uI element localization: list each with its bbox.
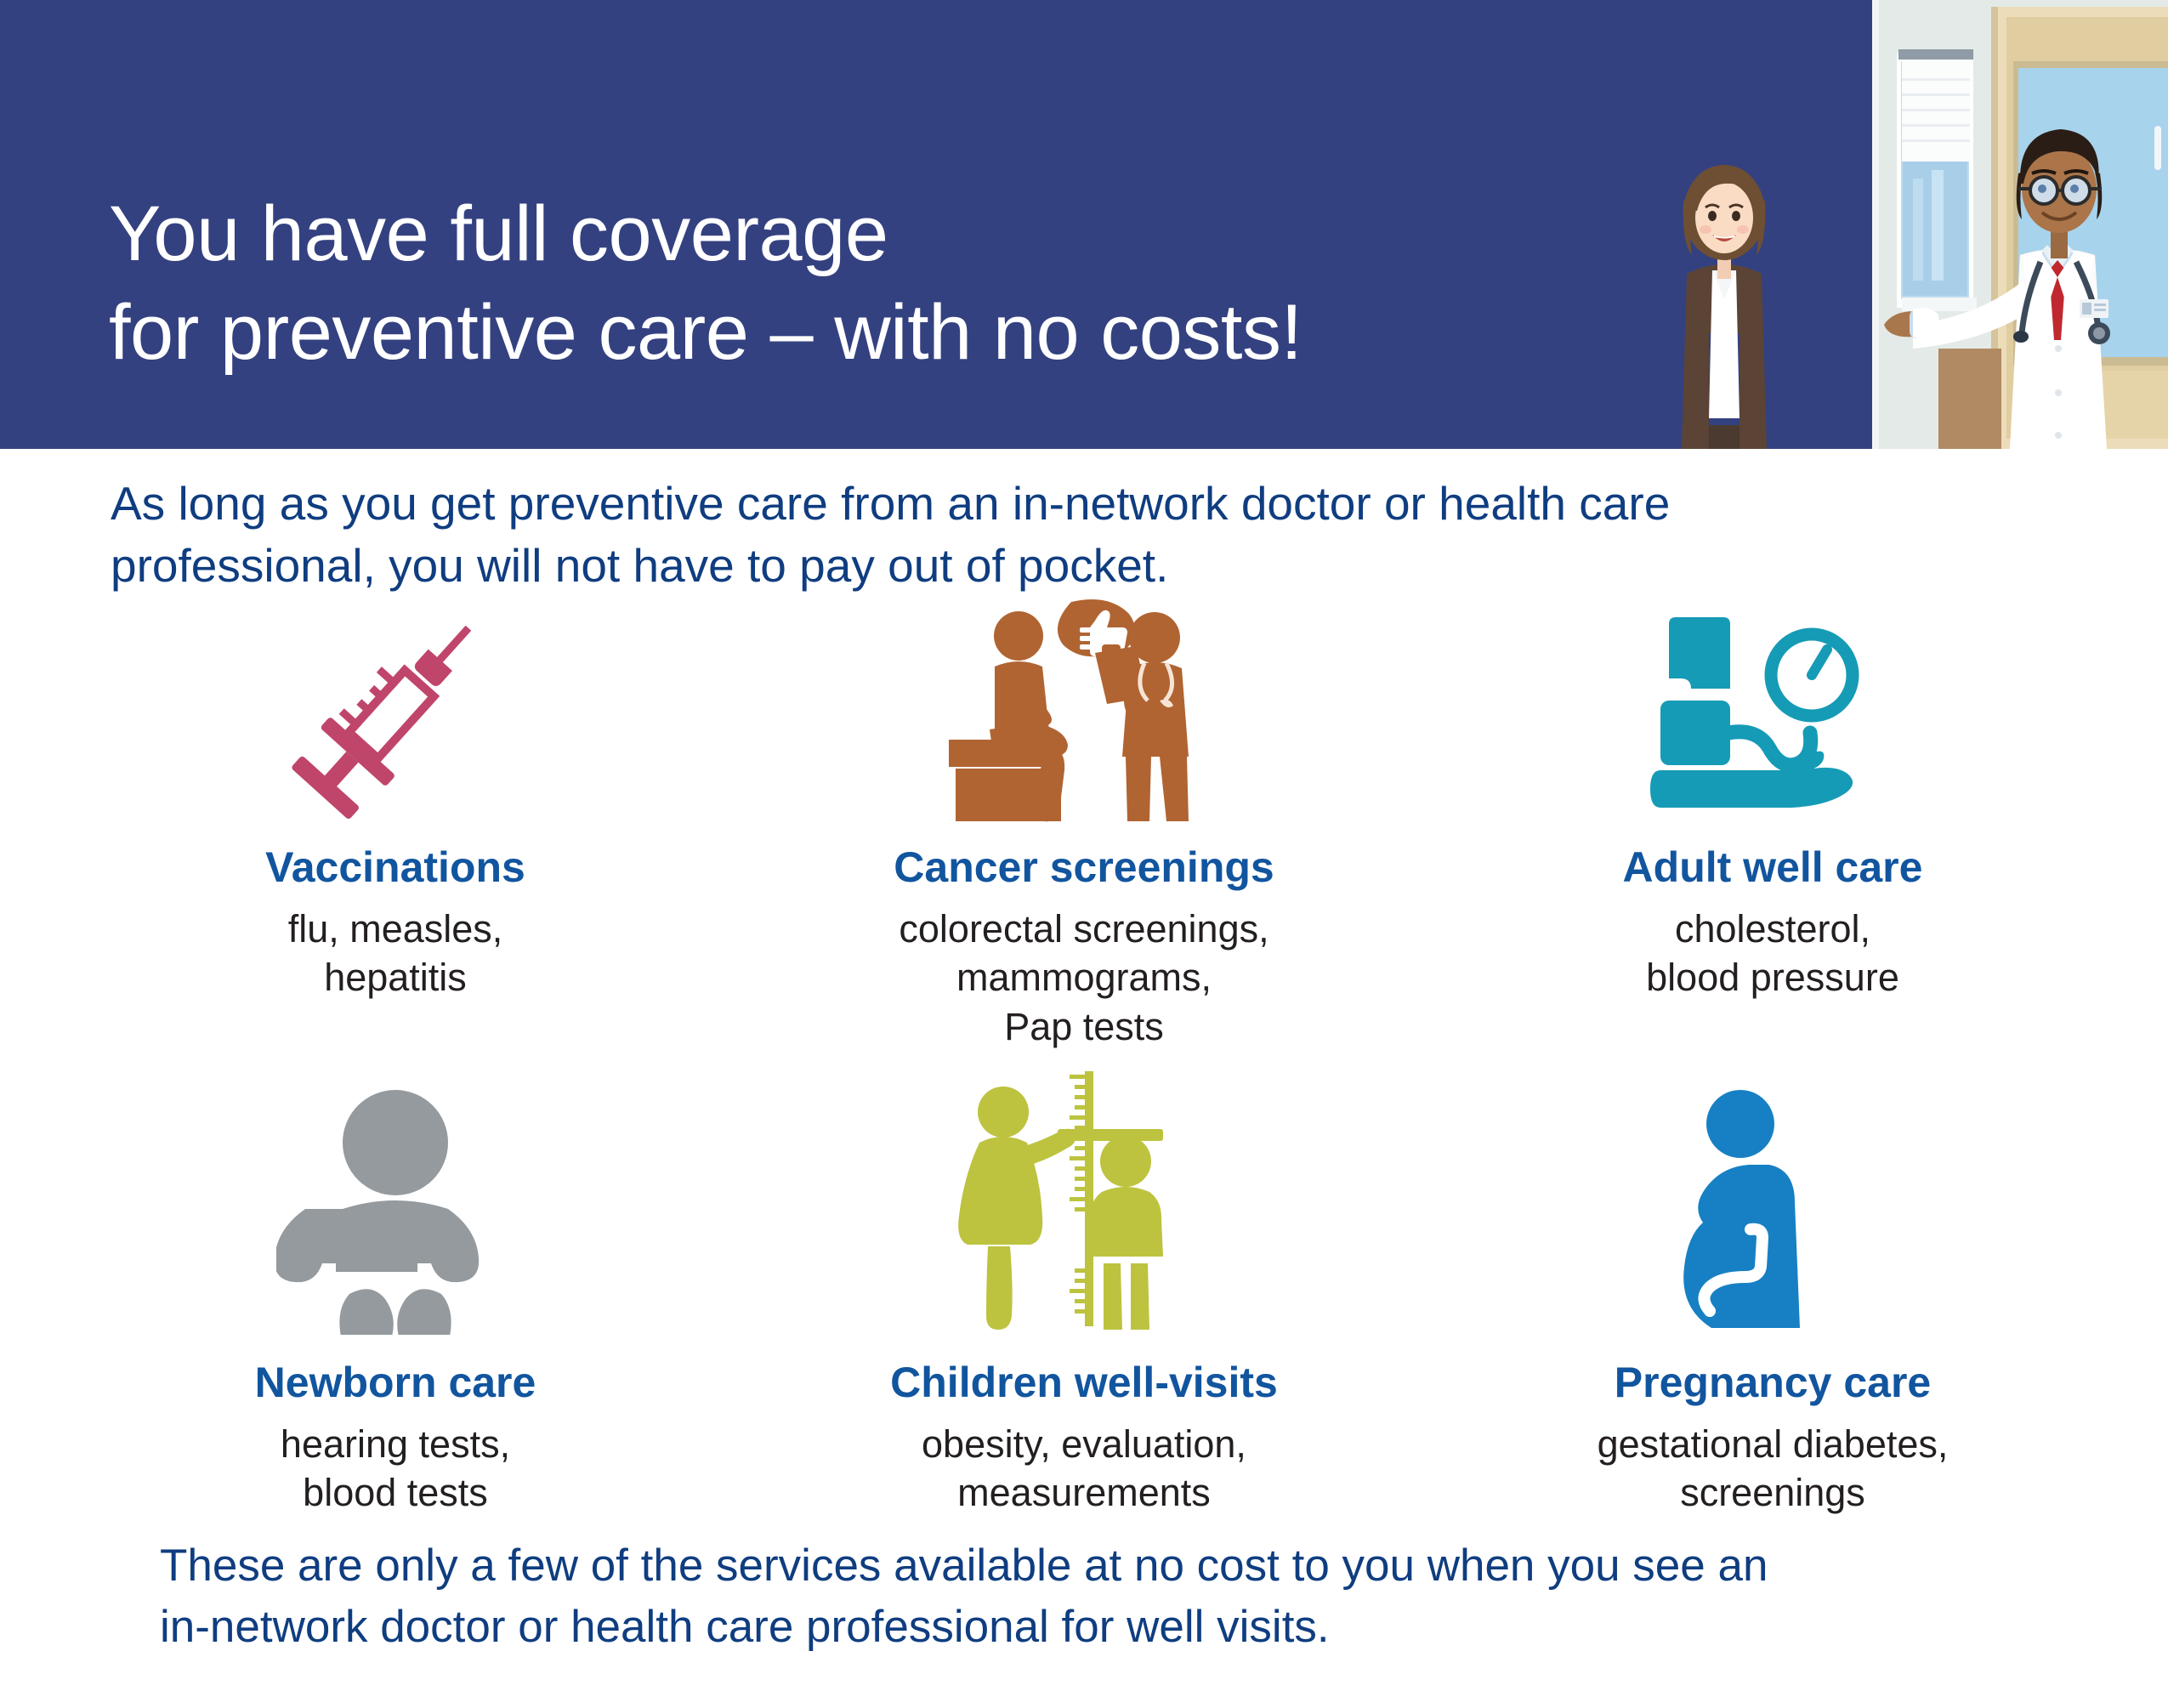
service-description: hearing tests, blood tests — [281, 1420, 510, 1518]
service-title: Vaccinations — [265, 843, 525, 893]
preventive-care-infographic: You have full coverage for preventive ca… — [0, 0, 2168, 1708]
service-title: Children well-visits — [890, 1359, 1278, 1408]
header-illustration — [1658, 0, 2168, 449]
page-title: You have full coverage for preventive ca… — [109, 185, 1303, 383]
service-title: Pregnancy care — [1615, 1359, 1931, 1408]
service-description: cholesterol, blood pressure — [1646, 905, 1899, 1002]
header-band: You have full coverage for preventive ca… — [0, 0, 2168, 449]
child-height-measurement-icon — [944, 1071, 1224, 1335]
service-card-newborn-care: Newborn care hearing tests, blood tests — [51, 1071, 740, 1530]
baby-icon — [276, 1071, 514, 1335]
pregnant-woman-icon — [1662, 1071, 1883, 1335]
service-description: obesity, evaluation, measurements — [922, 1420, 1246, 1518]
service-card-cancer-screenings: Cancer screenings colorectal screenings,… — [740, 595, 1428, 1071]
blood-pressure-cuff-icon — [1645, 595, 1900, 825]
service-title: Cancer screenings — [894, 843, 1274, 893]
service-title: Adult well care — [1623, 843, 1923, 893]
intro-paragraph: As long as you get preventive care from … — [111, 473, 1913, 597]
syringe-icon — [268, 595, 523, 825]
service-card-adult-well-care: Adult well care cholesterol, blood press… — [1428, 595, 2117, 1071]
woman-and-doctor-illustration-svg — [1658, 0, 2168, 449]
service-title: Newborn care — [255, 1359, 536, 1408]
doctor-and-patient-consult-icon — [944, 595, 1224, 825]
woman-figure — [1682, 165, 1767, 449]
service-card-pregnancy-care: Pregnancy care gestational diabetes, scr… — [1428, 1071, 2117, 1530]
services-row-1: Vaccinations flu, measles, hepatitis — [51, 595, 2117, 1071]
service-card-vaccinations: Vaccinations flu, measles, hepatitis — [51, 595, 740, 1071]
service-description: colorectal screenings, mammograms, Pap t… — [899, 905, 1268, 1052]
service-description: flu, measles, hepatitis — [288, 905, 503, 1002]
services-row-2: Newborn care hearing tests, blood tests — [51, 1071, 2117, 1530]
service-description: gestational diabetes, screenings — [1598, 1420, 1949, 1518]
services-grid: Vaccinations flu, measles, hepatitis — [51, 595, 2117, 1530]
outro-paragraph: These are only a few of the services ava… — [160, 1535, 2013, 1657]
service-card-children-well-visits: Children well-visits obesity, evaluation… — [740, 1071, 1428, 1530]
